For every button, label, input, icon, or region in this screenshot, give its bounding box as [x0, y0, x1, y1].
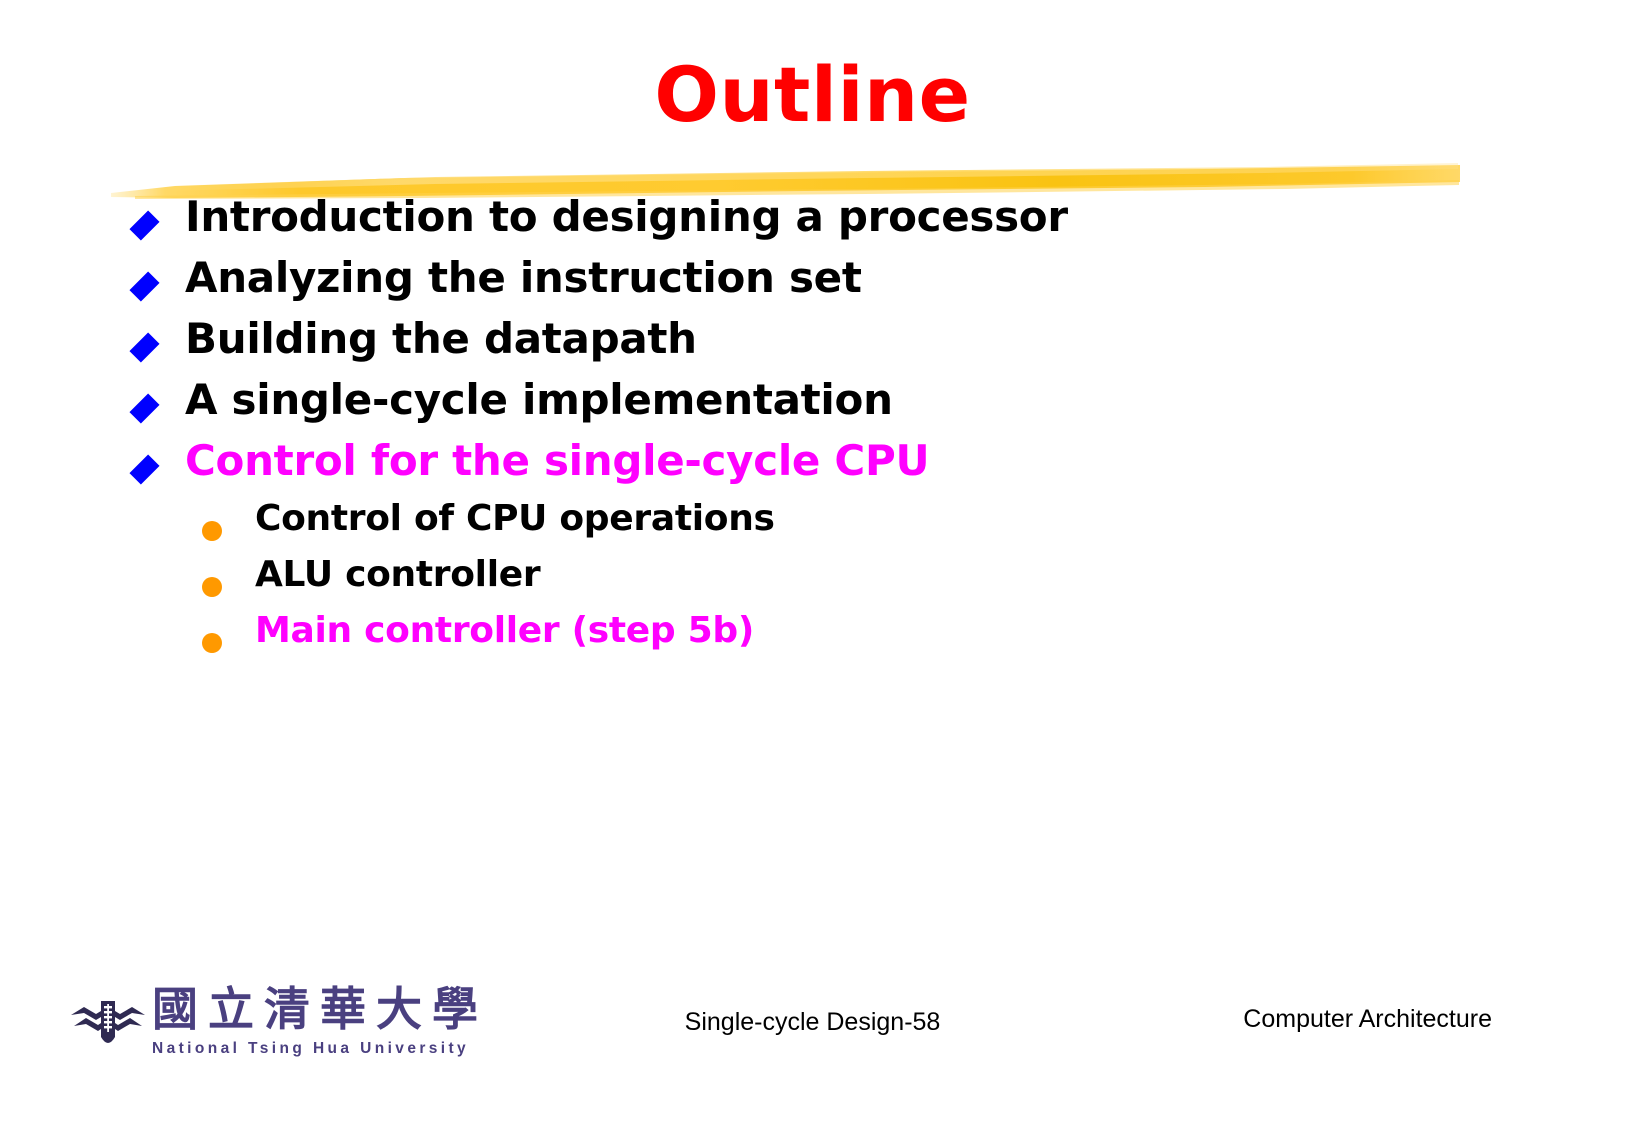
page-title: Outline [0, 57, 1625, 133]
outline-item: Control for the single-cycle CPU [128, 440, 1528, 501]
diamond-bullet-icon [129, 210, 159, 240]
bullet-marker-slot [128, 257, 185, 295]
outline-bullet-list: Introduction to designing a processorAna… [128, 196, 1528, 669]
outline-item-label: Control for the single-cycle CPU [185, 440, 929, 482]
outline-item: Main controller (step 5b) [196, 613, 1528, 669]
outline-item-label: ALU controller [255, 557, 540, 593]
diamond-bullet-icon [129, 393, 159, 423]
outline-item: Introduction to designing a processor [128, 196, 1528, 257]
outline-item-label: Analyzing the instruction set [185, 257, 862, 299]
diamond-bullet-icon [129, 271, 159, 301]
bullet-marker-slot [196, 557, 255, 597]
footer-course-label: Computer Architecture [1243, 1005, 1492, 1034]
outline-item-label: Building the datapath [185, 318, 697, 360]
dot-bullet-icon [202, 577, 222, 597]
dot-bullet-icon [202, 521, 222, 541]
outline-item-label: Control of CPU operations [255, 501, 775, 537]
outline-item-label: Main controller (step 5b) [255, 613, 754, 649]
bullet-marker-slot [128, 196, 185, 234]
outline-item: Analyzing the instruction set [128, 257, 1528, 318]
bullet-marker-slot [196, 613, 255, 653]
dot-bullet-icon [202, 633, 222, 653]
outline-item-label: A single-cycle implementation [185, 379, 893, 421]
bullet-marker-slot [196, 501, 255, 541]
diamond-bullet-icon [129, 454, 159, 484]
diamond-bullet-icon [129, 332, 159, 362]
outline-item: Building the datapath [128, 318, 1528, 379]
bullet-marker-slot [128, 318, 185, 356]
logo-english-name: National Tsing Hua University [152, 1040, 469, 1058]
bullet-marker-slot [128, 379, 185, 417]
outline-item: Control of CPU operations [196, 501, 1528, 557]
outline-item-label: Introduction to designing a processor [185, 196, 1068, 238]
outline-item: A single-cycle implementation [128, 379, 1528, 440]
outline-item: ALU controller [196, 557, 1528, 613]
bullet-marker-slot [128, 440, 185, 478]
